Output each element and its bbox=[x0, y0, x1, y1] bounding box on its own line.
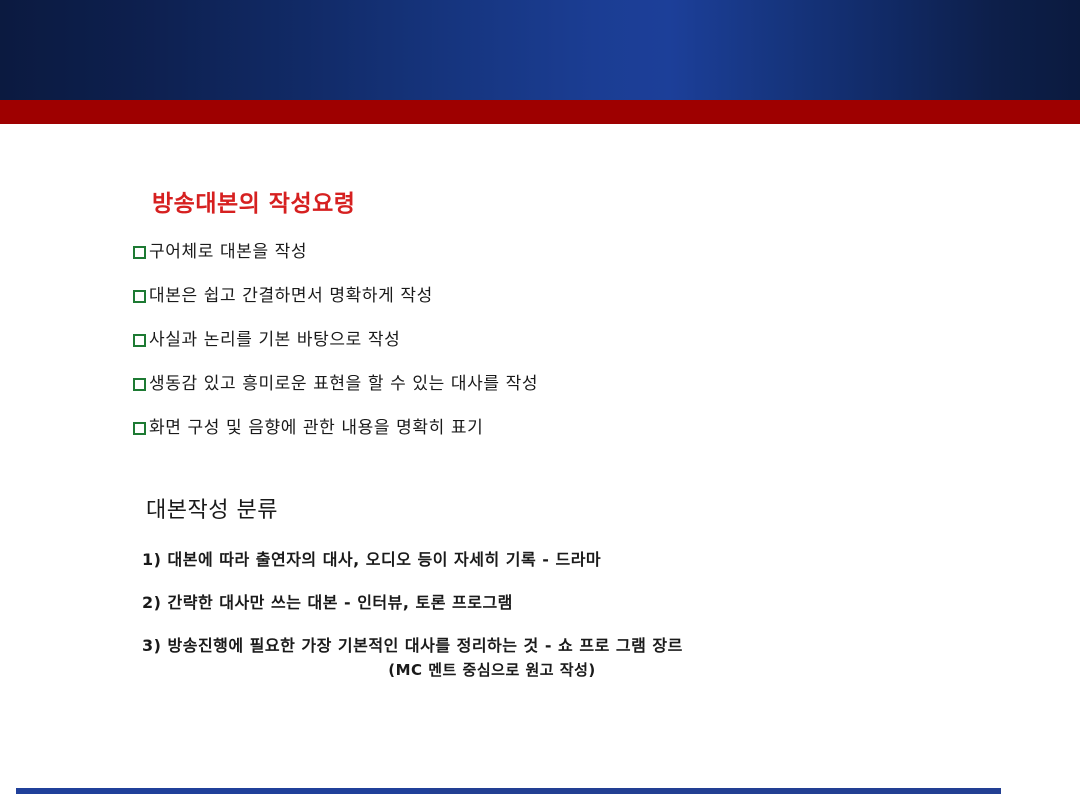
numbered-label: 1) 대본에 따라 출연자의 대사, 오디오 등이 자세히 기록 - 드라마 bbox=[142, 549, 1002, 571]
numbered-sublabel: (MC 멘트 중심으로 원고 작성) bbox=[142, 659, 842, 681]
section-one-title: 방송대본의 작성요령 bbox=[152, 184, 355, 218]
list-item: 3) 방송진행에 필요한 가장 기본적인 대사를 정리하는 것 - 쇼 프로 그… bbox=[142, 635, 1002, 681]
checkbox-bullet-icon bbox=[133, 246, 146, 259]
bullet-label: 구어체로 대본을 작성 bbox=[149, 242, 307, 263]
checkbox-bullet-icon bbox=[133, 378, 146, 391]
checkbox-bullet-icon bbox=[133, 334, 146, 347]
bullet-label: 대본은 쉽고 간결하면서 명확하게 작성 bbox=[149, 286, 433, 307]
list-item: 화면 구성 및 음향에 관한 내용을 명확히 표기 bbox=[133, 418, 933, 441]
list-item: 1) 대본에 따라 출연자의 대사, 오디오 등이 자세히 기록 - 드라마 bbox=[142, 549, 1002, 571]
numbered-list: 1) 대본에 따라 출연자의 대사, 오디오 등이 자세히 기록 - 드라마 2… bbox=[142, 549, 1002, 702]
bullet-label: 생동감 있고 흥미로운 표현을 할 수 있는 대사를 작성 bbox=[149, 374, 538, 395]
list-item: 생동감 있고 흥미로운 표현을 할 수 있는 대사를 작성 bbox=[133, 374, 933, 397]
bullet-label: 사실과 논리를 기본 바탕으로 작성 bbox=[149, 330, 400, 351]
list-item: 2) 간략한 대사만 쓰는 대본 - 인터뷰, 토론 프로그램 bbox=[142, 592, 1002, 614]
bullet-list: 구어체로 대본을 작성 대본은 쉽고 간결하면서 명확하게 작성 사실과 논리를… bbox=[133, 242, 933, 462]
list-item: 대본은 쉽고 간결하면서 명확하게 작성 bbox=[133, 286, 933, 309]
list-item: 사실과 논리를 기본 바탕으로 작성 bbox=[133, 330, 933, 353]
numbered-label: 2) 간략한 대사만 쓰는 대본 - 인터뷰, 토론 프로그램 bbox=[142, 592, 1002, 614]
footer-rule bbox=[16, 788, 1001, 794]
header-banner bbox=[0, 0, 1080, 100]
list-item: 구어체로 대본을 작성 bbox=[133, 242, 933, 265]
slide-body: 방송대본의 작성요령 구어체로 대본을 작성 대본은 쉽고 간결하면서 명확하게… bbox=[0, 124, 1080, 810]
numbered-label: 3) 방송진행에 필요한 가장 기본적인 대사를 정리하는 것 - 쇼 프로 그… bbox=[142, 635, 1002, 657]
header-red-band bbox=[0, 100, 1080, 124]
bullet-label: 화면 구성 및 음향에 관한 내용을 명확히 표기 bbox=[149, 418, 483, 439]
checkbox-bullet-icon bbox=[133, 422, 146, 435]
checkbox-bullet-icon bbox=[133, 290, 146, 303]
section-two-title: 대본작성 분류 bbox=[146, 492, 278, 524]
